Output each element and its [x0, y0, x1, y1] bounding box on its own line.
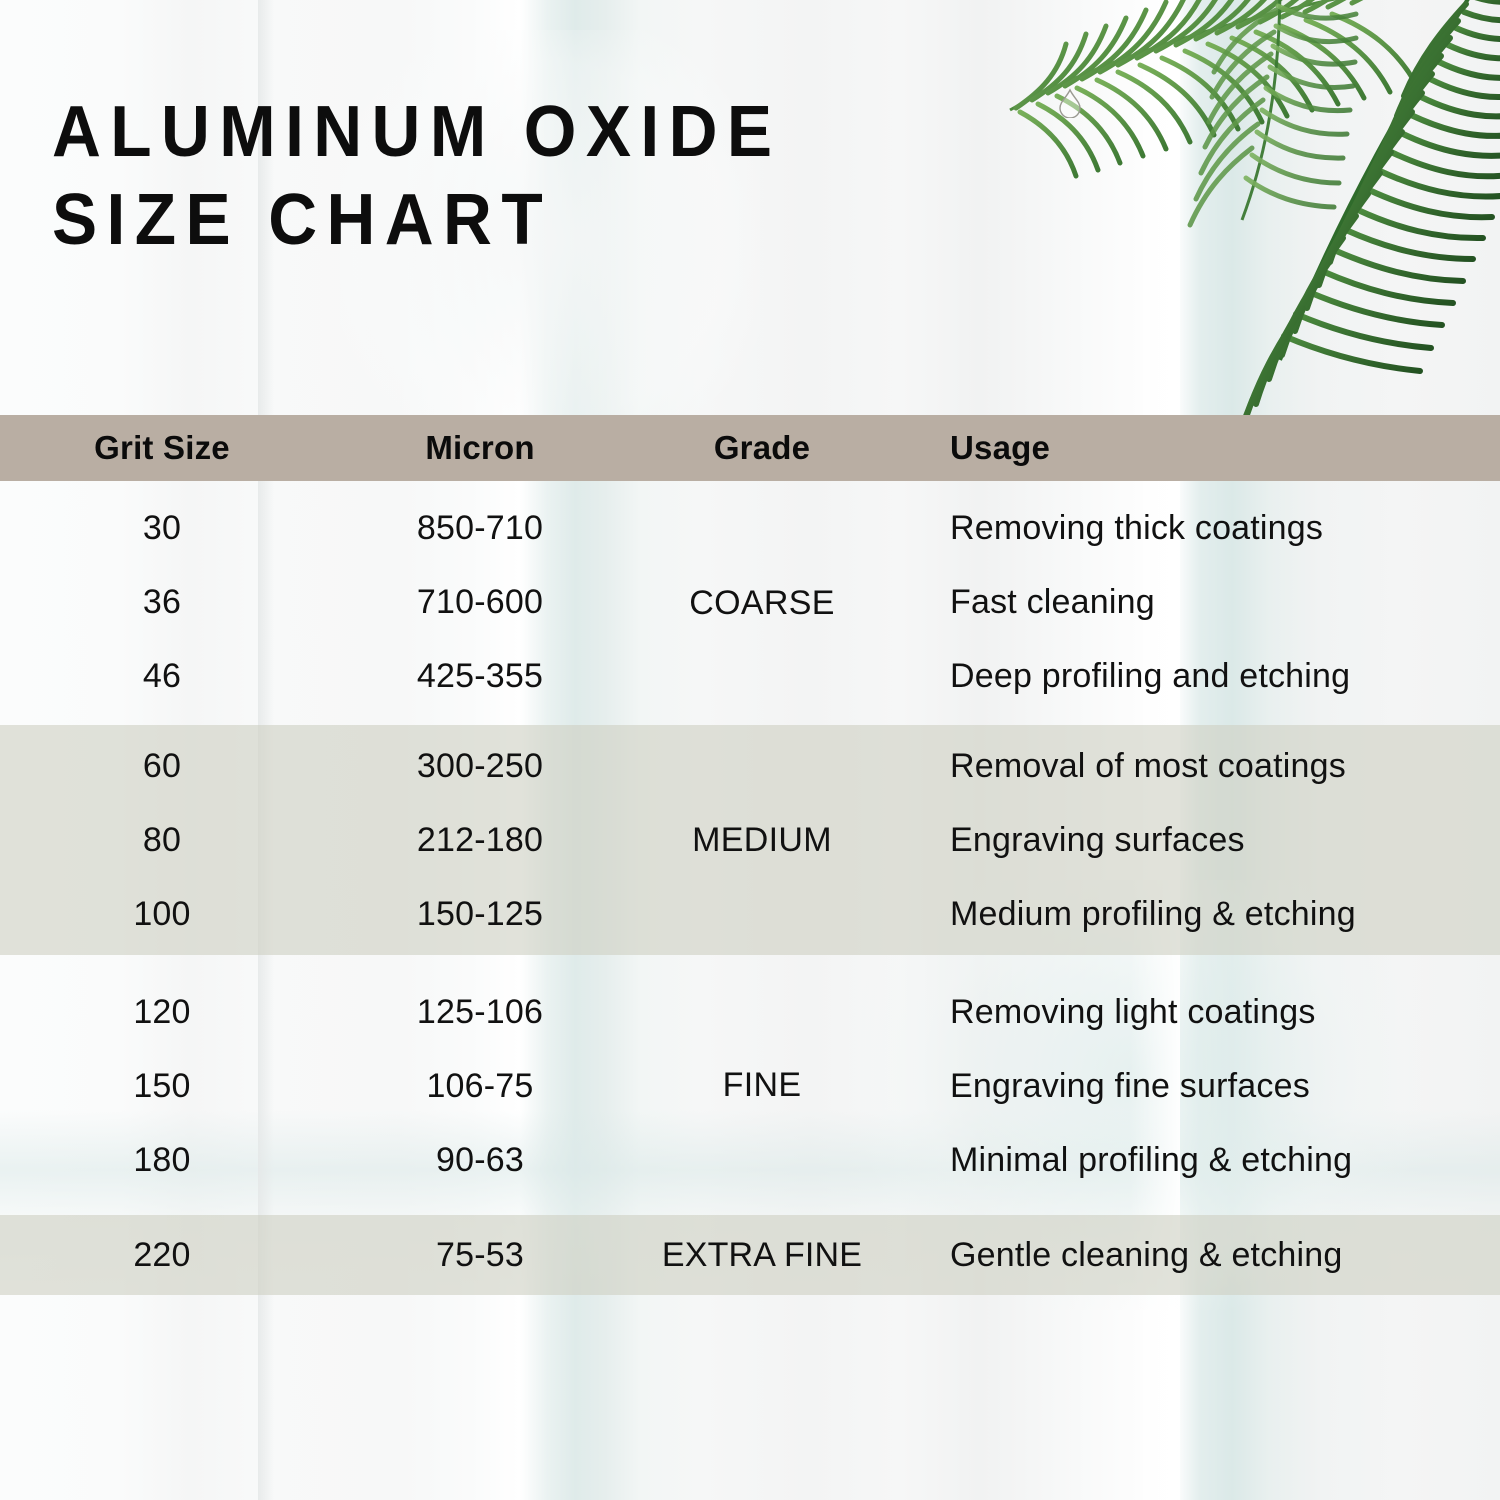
table-group-fine: FINE 120 125-106 Removing light coatings…: [0, 955, 1500, 1215]
cell-grit-size: 100: [62, 877, 262, 951]
cell-grit-size: 120: [62, 975, 262, 1049]
grade-label-extra-fine: EXTRA FINE: [632, 1218, 892, 1292]
page-title: ALUMINUM OXIDE SIZE CHART: [52, 88, 992, 264]
size-chart-page: ALUMINUM OXIDE SIZE CHART: [0, 0, 1500, 1500]
cell-grit-size: 30: [62, 491, 262, 565]
cell-grit-size: 150: [62, 1049, 262, 1123]
cell-grit-size: 36: [62, 565, 262, 639]
column-header-micron: Micron: [330, 415, 630, 481]
table-row: 30 850-710 Removing thick coatings: [0, 491, 1500, 565]
cell-micron: 300-250: [330, 729, 630, 803]
table-row: 100 150-125 Medium profiling & etching: [0, 877, 1500, 951]
table-group-extra-fine: 220 75-53 EXTRA FINE Gentle cleaning & e…: [0, 1215, 1500, 1295]
table-group-medium: MEDIUM 60 300-250 Removal of most coatin…: [0, 725, 1500, 955]
table-row: 120 125-106 Removing light coatings: [0, 975, 1500, 1049]
cell-usage: Deep profiling and etching: [950, 639, 1490, 713]
cell-micron: 212-180: [330, 803, 630, 877]
table-row: 36 710-600 Fast cleaning: [0, 565, 1500, 639]
cell-grit-size: 46: [62, 639, 262, 713]
column-header-usage: Usage: [950, 415, 1490, 481]
cell-usage: Engraving fine surfaces: [950, 1049, 1490, 1123]
cell-micron: 90-63: [330, 1123, 630, 1197]
table-row: 180 90-63 Minimal profiling & etching: [0, 1123, 1500, 1197]
table-header-row: Grit Size Micron Grade Usage: [0, 415, 1500, 481]
cell-usage: Engraving surfaces: [950, 803, 1490, 877]
table-row: 220 75-53 EXTRA FINE Gentle cleaning & e…: [0, 1218, 1500, 1292]
cell-micron: 75-53: [330, 1218, 630, 1292]
cell-micron: 850-710: [330, 491, 630, 565]
table-row: 150 106-75 Engraving fine surfaces: [0, 1049, 1500, 1123]
cell-micron: 106-75: [330, 1049, 630, 1123]
cell-usage: Fast cleaning: [950, 565, 1490, 639]
cell-micron: 125-106: [330, 975, 630, 1049]
cell-usage: Gentle cleaning & etching: [950, 1218, 1490, 1292]
cell-usage: Medium profiling & etching: [950, 877, 1490, 951]
cell-grit-size: 60: [62, 729, 262, 803]
cell-usage: Removal of most coatings: [950, 729, 1490, 803]
column-header-grit-size: Grit Size: [62, 415, 262, 481]
cell-grit-size: 180: [62, 1123, 262, 1197]
cell-usage: Removing thick coatings: [950, 491, 1490, 565]
table-row: 60 300-250 Removal of most coatings: [0, 729, 1500, 803]
size-chart-table: Grit Size Micron Grade Usage COARSE 30 8…: [0, 415, 1500, 1295]
cell-grit-size: 80: [62, 803, 262, 877]
cell-grit-size: 220: [62, 1218, 262, 1292]
cell-usage: Minimal profiling & etching: [950, 1123, 1490, 1197]
table-group-coarse: COARSE 30 850-710 Removing thick coating…: [0, 481, 1500, 725]
column-header-grade: Grade: [632, 415, 892, 481]
cell-micron: 710-600: [330, 565, 630, 639]
cell-usage: Removing light coatings: [950, 975, 1490, 1049]
table-row: 46 425-355 Deep profiling and etching: [0, 639, 1500, 713]
cell-micron: 425-355: [330, 639, 630, 713]
table-row: 80 212-180 Engraving surfaces: [0, 803, 1500, 877]
cell-micron: 150-125: [330, 877, 630, 951]
